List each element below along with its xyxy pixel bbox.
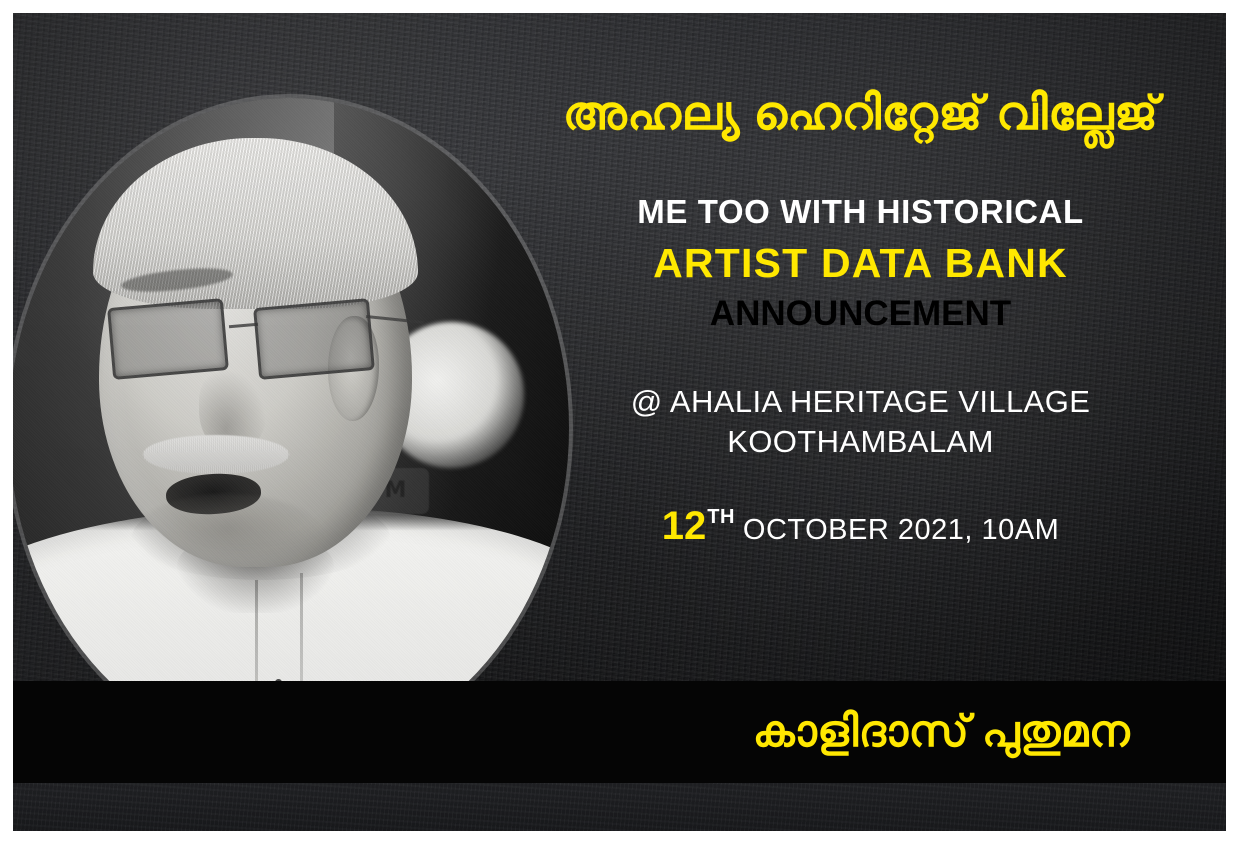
tagline-highlight: ARTIST DATA BANK (637, 238, 1083, 288)
poster-outer-frame: M (0, 0, 1240, 849)
tagline-line-1: ME TOO WITH HISTORICAL (637, 193, 1083, 230)
portrait-film-grain (13, 98, 569, 758)
poster-canvas: M (13, 13, 1226, 831)
portrait-photo: M (13, 98, 569, 758)
tagline-block: ME TOO WITH HISTORICAL ARTIST DATA BANK … (637, 192, 1083, 336)
tagline-line-3: ANNOUNCEMENT (637, 293, 1083, 336)
venue-line-1: @ AHALIA HERITAGE VILLAGE (631, 382, 1091, 422)
event-date-month-year-time: OCTOBER 2021, 10AM (743, 514, 1059, 547)
venue-line-2: KOOTHAMBALAM (631, 422, 1091, 462)
event-date-time: 12 TH OCTOBER 2021, 10AM (662, 504, 1060, 549)
page-title: അഹല്യ ഹെറിറ്റേജ് വില്ലേജ് (563, 87, 1158, 140)
venue-block: @ AHALIA HERITAGE VILLAGE KOOTHAMBALAM (631, 382, 1091, 463)
event-date-ordinal-suffix: TH (707, 506, 735, 529)
event-date-day: 12 (662, 504, 707, 549)
poster-content-column: അഹല്യ ഹെറിറ്റേജ് വില്ലേജ് ME TOO WITH HI… (503, 13, 1218, 831)
